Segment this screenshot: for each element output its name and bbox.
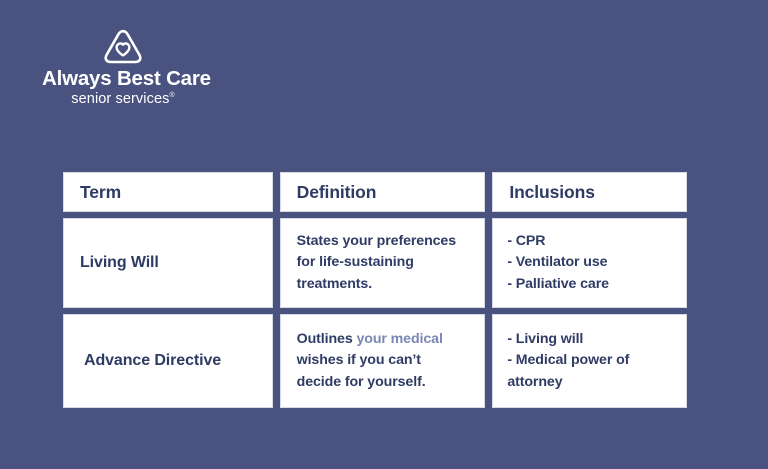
terms-table: Term Definition Inclusions Living Will S… xyxy=(63,172,687,408)
logo-tagline: senior services® xyxy=(42,91,204,108)
list-item: - Ventilator use xyxy=(507,252,609,273)
table-row: Advance Directive Outlines your medical … xyxy=(63,314,687,408)
definition-text: States your preferences for life-sustain… xyxy=(297,231,469,295)
column-header-label: Definition xyxy=(297,182,377,203)
table-cell-definition: Outlines your medical wishes if you can’… xyxy=(280,314,486,408)
always-best-care-triangle-heart-logo-icon xyxy=(101,28,145,66)
definition-text-run: wishes if you can’t xyxy=(297,352,421,368)
definition-text-run: Outlines xyxy=(297,331,357,347)
term-label: Advance Directive xyxy=(84,352,221,370)
inclusions-list: - CPR - Ventilator use - Palliative care xyxy=(507,231,609,295)
inclusions-list: - Living will - Medical power of attorne… xyxy=(507,329,629,393)
list-item: - CPR xyxy=(507,231,609,252)
definition-text-run: decide for yourself. xyxy=(297,374,426,390)
definition-text: Outlines your medical wishes if you can’… xyxy=(297,329,469,393)
table-cell-definition: States your preferences for life-sustain… xyxy=(280,218,486,308)
registered-trademark-symbol: ® xyxy=(169,92,174,99)
column-header-label: Term xyxy=(80,182,121,203)
table-cell-inclusions: - Living will - Medical power of attorne… xyxy=(492,314,687,408)
table-cell-inclusions: - CPR - Ventilator use - Palliative care xyxy=(492,218,687,308)
table-cell-term: Advance Directive xyxy=(63,314,273,408)
brand-logo: Always Best Care senior services® xyxy=(42,28,204,108)
logo-wordmark: Always Best Care xyxy=(42,68,204,90)
list-item: - Palliative care xyxy=(507,274,609,295)
column-header-label: Inclusions xyxy=(509,182,595,203)
table-header-cell-inclusions: Inclusions xyxy=(492,172,687,212)
slide-canvas: Always Best Care senior services® Term D… xyxy=(0,0,768,469)
table-header-row: Term Definition Inclusions xyxy=(63,172,687,212)
definition-text-run: your medical xyxy=(356,331,442,347)
table-cell-term: Living Will xyxy=(63,218,273,308)
term-label: Living Will xyxy=(80,254,159,272)
logo-tagline-text: senior services xyxy=(71,91,169,107)
list-item: - Medical power of attorney xyxy=(507,350,629,393)
table-header-cell-term: Term xyxy=(63,172,273,212)
list-item: - Living will xyxy=(507,329,629,350)
table-row: Living Will States your preferences for … xyxy=(63,218,687,308)
table-header-cell-definition: Definition xyxy=(280,172,486,212)
